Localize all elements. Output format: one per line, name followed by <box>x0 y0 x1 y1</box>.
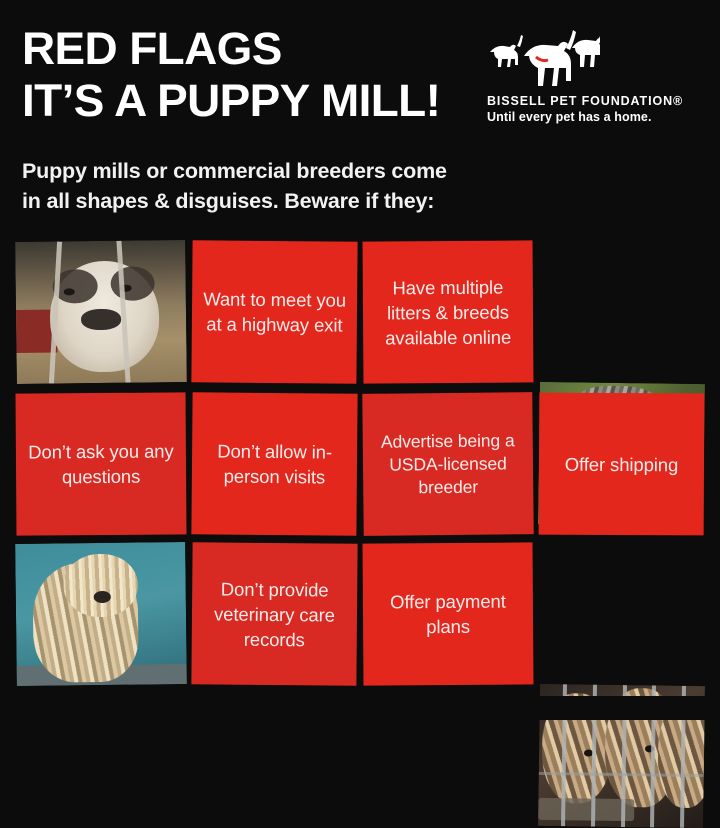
photo-matted-cream-dog <box>15 542 187 686</box>
large-dog-silhouette <box>524 30 576 86</box>
grid-row-3: Don’t provide veterinary care records Of… <box>0 543 720 688</box>
flag-multiple-litters: Have multiple litters & breeds available… <box>363 240 534 383</box>
bottom-band <box>0 696 720 720</box>
photo-puppy-behind-bars <box>15 240 187 384</box>
flag-no-visits: Don’t allow in-person visits <box>191 392 357 535</box>
flag-no-questions: Don’t ask you any questions <box>16 392 187 535</box>
subheading: Puppy mills or commercial breeders come … <box>22 156 542 216</box>
flag-label: Don’t allow in-person visits <box>192 438 357 489</box>
flag-label: Want to meet you at a highway exit <box>192 286 357 337</box>
grid-row-2: Don’t ask you any questions Don’t allow … <box>0 393 720 538</box>
medium-dog-silhouette <box>572 27 600 67</box>
page-title: RED FLAGS IT’S A PUPPY MILL! <box>22 26 432 123</box>
puppy-mill-red-flags-poster: RED FLAGS IT’S A PUPPY MILL! Puppy mills… <box>0 0 720 720</box>
poster-header: RED FLAGS IT’S A PUPPY MILL! Puppy mills… <box>0 0 720 232</box>
red-flags-grid: Want to meet you at a highway exit Have … <box>0 236 720 696</box>
logo-name: BISSELL PET FOUNDATION® <box>487 94 683 108</box>
bissell-pet-foundation-logo: BISSELL PET FOUNDATION® Until every pet … <box>480 26 695 126</box>
flag-no-vet-records: Don’t provide veterinary care records <box>191 542 357 685</box>
flag-label: Don’t ask you any questions <box>16 438 186 489</box>
logo-tagline: Until every pet has a home. <box>487 110 652 124</box>
small-dog-silhouette <box>490 35 523 67</box>
flag-label: Don’t provide veterinary care records <box>192 576 358 652</box>
flag-payment-plans: Offer payment plans <box>363 542 534 685</box>
title-line-2: IT’S A PUPPY MILL! <box>22 78 440 123</box>
flag-highway-exit: Want to meet you at a highway exit <box>191 240 357 383</box>
flag-label: Advertise being a USDA-licensed breeder <box>363 429 534 500</box>
subheading-line-2: in all shapes & disguises. Beware if the… <box>22 186 542 216</box>
flag-label: Have multiple litters & breeds available… <box>363 274 534 350</box>
title-line-1: RED FLAGS <box>22 26 440 71</box>
grid-row-1: Want to meet you at a highway exit Have … <box>0 241 720 386</box>
logo-dogs-icon <box>480 26 600 88</box>
flag-label: Offer shipping <box>557 451 687 477</box>
subheading-line-1: Puppy mills or commercial breeders come <box>22 156 542 186</box>
flag-usda-licensed: Advertise being a USDA-licensed breeder <box>362 392 533 536</box>
flag-label: Offer payment plans <box>363 588 533 639</box>
flag-offer-shipping: Offer shipping <box>539 393 705 536</box>
three-dogs-icon <box>480 26 600 88</box>
